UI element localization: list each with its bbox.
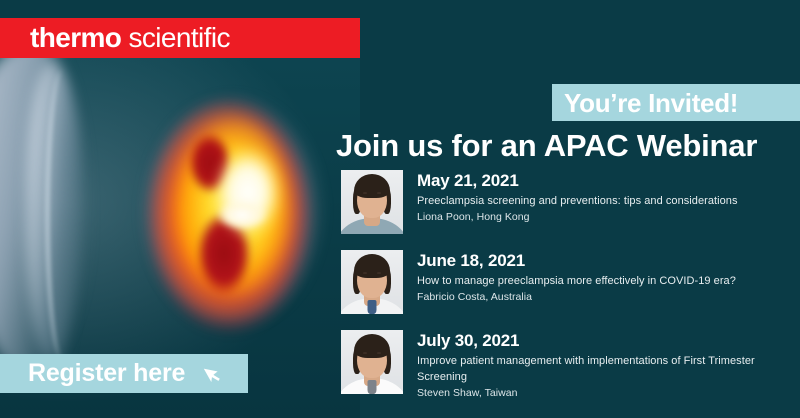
portrait-eye-right — [377, 192, 381, 194]
youre-invited-label: You’re Invited! — [564, 90, 738, 116]
portrait-eye-right — [377, 272, 381, 274]
register-here-button[interactable]: Register here — [0, 354, 248, 393]
webinar-session-list: May 21, 2021 Preeclampsia screening and … — [341, 170, 796, 402]
webinar-invitation-poster: thermo scientific You’re Invited! Join u… — [0, 0, 800, 418]
session-speaker: Liona Poon, Hong Kong — [417, 210, 738, 226]
thermo-scientific-logo-bar: thermo scientific — [0, 18, 360, 58]
list-item: July 30, 2021 Improve patient management… — [341, 330, 796, 402]
register-here-label: Register here — [28, 361, 185, 386]
session-date: June 18, 2021 — [417, 251, 736, 271]
session-details: June 18, 2021 How to manage preeclampsia… — [417, 250, 736, 306]
portrait-necktie — [368, 300, 377, 314]
session-details: May 21, 2021 Preeclampsia screening and … — [417, 170, 738, 226]
session-details: July 30, 2021 Improve patient management… — [417, 330, 796, 402]
logo-brand-text: thermo — [30, 22, 121, 53]
logo-product-line: scientific — [128, 22, 229, 53]
session-date: May 21, 2021 — [417, 171, 738, 191]
session-date: July 30, 2021 — [417, 331, 796, 351]
page-title: Join us for an APAC Webinar — [336, 129, 757, 163]
session-title: How to manage preeclampsia more effectiv… — [417, 274, 736, 290]
speaker-portrait-steven-shaw — [341, 330, 403, 394]
speaker-portrait-liona-poon — [341, 170, 403, 234]
thermo-scientific-logo: thermo scientific — [30, 24, 230, 52]
session-speaker: Fabricio Costa, Australia — [417, 290, 736, 306]
cursor-pointer-icon — [199, 361, 225, 387]
session-speaker: Steven Shaw, Taiwan — [417, 386, 796, 402]
list-item: June 18, 2021 How to manage preeclampsia… — [341, 250, 796, 314]
speaker-portrait-fabricio-costa — [341, 250, 403, 314]
portrait-eye-left — [363, 272, 367, 274]
list-item: May 21, 2021 Preeclampsia screening and … — [341, 170, 796, 234]
session-title: Improve patient management with implemen… — [417, 354, 796, 386]
session-title: Preeclampsia screening and preventions: … — [417, 194, 738, 210]
portrait-necktie — [368, 380, 377, 394]
portrait-eye-left — [363, 192, 367, 194]
youre-invited-badge: You’re Invited! — [552, 84, 800, 121]
artwork-limb-edge — [46, 70, 79, 360]
portrait-eye-right — [377, 352, 381, 354]
portrait-eye-left — [363, 352, 367, 354]
artwork-fetus-limb — [216, 200, 268, 230]
